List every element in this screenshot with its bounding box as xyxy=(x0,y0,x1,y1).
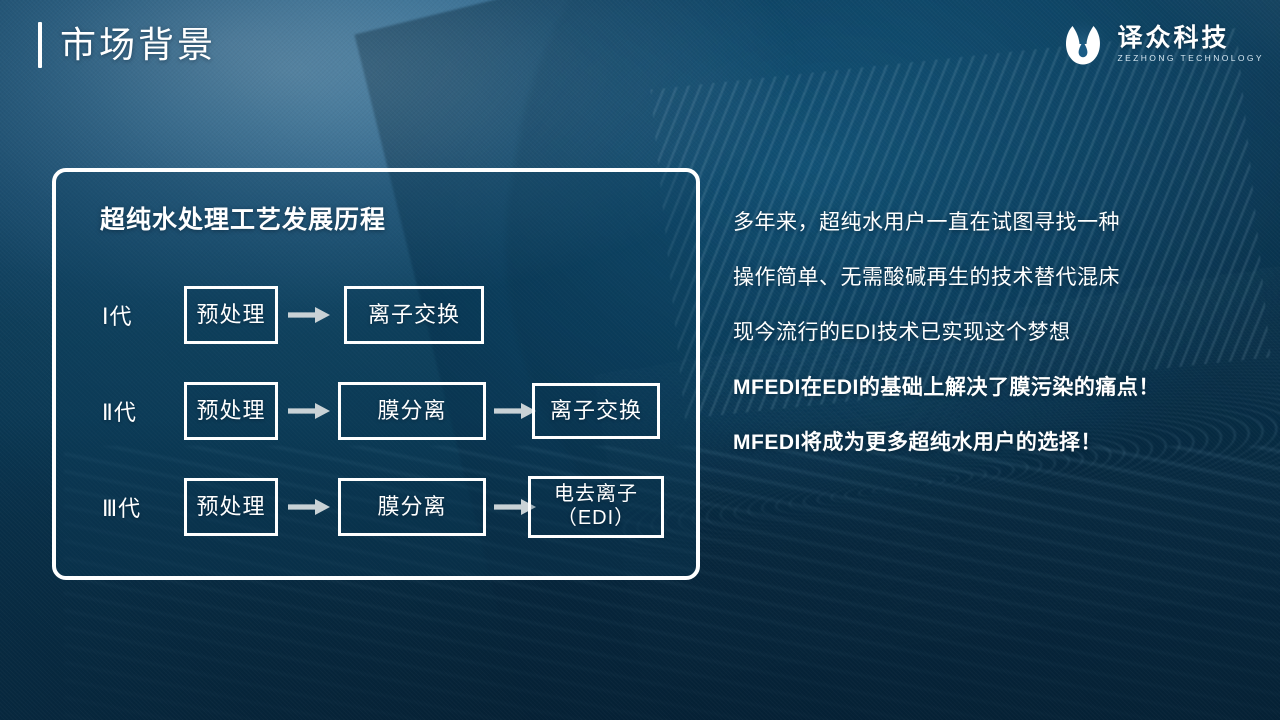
narrative-line: 多年来，超纯水用户一直在试图寻找一种 xyxy=(733,212,1253,233)
page-title: 市场背景 xyxy=(38,22,216,68)
brand-text: 译众科技 ZEZHONG TECHNOLOGY xyxy=(1118,25,1264,65)
narrative-text-block: 多年来，超纯水用户一直在试图寻找一种 操作简单、无需酸碱再生的技术替代混床 现今… xyxy=(733,212,1253,453)
flow-row-gen1: Ⅰ代 预处理 离子交换 xyxy=(56,267,696,363)
flow-node-edi-line1: 电去离子 xyxy=(554,483,638,507)
flow-node-edi-line2: （EDI） xyxy=(554,507,638,531)
narrative-line-emphasis: MFEDI在EDI的基础上解决了膜污染的痛点！ xyxy=(733,377,1253,398)
flow-node-pretreatment: 预处理 xyxy=(184,286,278,344)
flow-node-electrodeionization: 电去离子 （EDI） xyxy=(528,476,664,538)
flow-node-ion-exchange: 离子交换 xyxy=(532,383,660,439)
flow-node-pretreatment: 预处理 xyxy=(184,478,278,536)
brand-logo: 译众科技 ZEZHONG TECHNOLOGY xyxy=(1056,16,1264,74)
slide: 市场背景 译众科技 ZEZHONG TECHNOLOGY 超纯水处理工艺发 xyxy=(0,0,1280,720)
arrow-icon xyxy=(288,306,330,324)
flow-node-ion-exchange: 离子交换 xyxy=(344,286,484,344)
generation-label: Ⅲ代 xyxy=(102,491,141,523)
arrow-icon xyxy=(494,402,536,420)
narrative-line: 操作简单、无需酸碱再生的技术替代混床 xyxy=(733,267,1253,288)
flow-node-membrane-separation: 膜分离 xyxy=(338,478,486,536)
flow-row-gen2: Ⅱ代 预处理 膜分离 离子交换 xyxy=(56,363,696,459)
narrative-line-emphasis: MFEDI将成为更多超纯水用户的选择！ xyxy=(733,432,1253,453)
generation-label: Ⅰ代 xyxy=(102,299,133,331)
process-history-panel: 超纯水处理工艺发展历程 Ⅰ代 预处理 离子交换 Ⅱ代 预处理 xyxy=(52,168,700,580)
title-label: 市场背景 xyxy=(60,27,216,63)
droplet-leaf-icon xyxy=(1056,17,1110,73)
arrow-icon xyxy=(288,402,330,420)
brand-name-en: ZEZHONG TECHNOLOGY xyxy=(1118,53,1264,65)
brand-name-cn: 译众科技 xyxy=(1118,25,1264,51)
flow-node-membrane-separation: 膜分离 xyxy=(338,382,486,440)
panel-title: 超纯水处理工艺发展历程 xyxy=(100,200,386,236)
generation-label: Ⅱ代 xyxy=(102,395,137,427)
title-accent-bar xyxy=(38,22,42,68)
flow-node-pretreatment: 预处理 xyxy=(184,382,278,440)
flow-row-gen3: Ⅲ代 预处理 膜分离 电去离子 （EDI） xyxy=(56,459,696,555)
arrow-icon xyxy=(288,498,330,516)
narrative-line: 现今流行的EDI技术已实现这个梦想 xyxy=(733,322,1253,343)
flow-diagram: Ⅰ代 预处理 离子交换 Ⅱ代 预处理 膜分离 xyxy=(56,267,696,555)
